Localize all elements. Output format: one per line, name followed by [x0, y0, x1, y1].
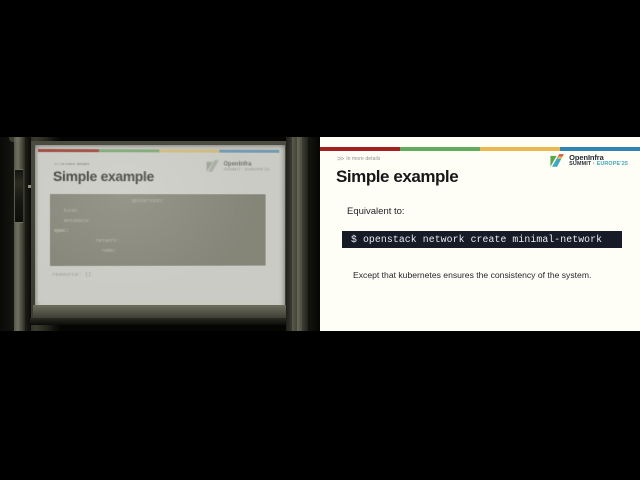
projected-code-line: network: — [96, 238, 120, 244]
projected-code-line: metadata: — [64, 218, 91, 224]
slide-note-text: Except that kubernetes ensures the consi… — [353, 270, 591, 280]
projected-code-line: kind: — [64, 208, 79, 214]
letterbox-top — [0, 0, 640, 137]
slide-eyebrow: >> In more details — [337, 156, 380, 163]
slide-lead-text: Equivalent to: — [347, 206, 405, 217]
projected-code-line: name: — [102, 248, 117, 254]
openinfra-chevron-icon — [205, 159, 222, 174]
slide-eyebrow-label: In more details — [346, 157, 380, 162]
accent-segment-yellow — [480, 147, 560, 151]
command-code-block: $ openstack network create minimal-netwo… — [342, 231, 622, 248]
openinfra-summit-logo: OpenInfra SUMMIT · EUROPE'25 — [549, 153, 628, 168]
projected-code-line: apiVersion: — [132, 198, 165, 204]
slide-title: Simple example — [336, 167, 458, 187]
chevron-right-double-icon: >> — [337, 156, 343, 163]
logo-summit-text: SUMMIT · — [569, 161, 595, 167]
video-frame: >> In more details Simple example OpenIn… — [0, 0, 640, 480]
projected-logo: OpenInfra SUMMIT · EUROPE'25 — [205, 159, 270, 174]
logo-line-summit: SUMMIT · EUROPE'25 — [569, 162, 628, 167]
letterbox-bottom — [0, 331, 640, 480]
door-frame — [14, 137, 25, 331]
projected-title: Simple example — [53, 168, 154, 184]
logo-edition-text: EUROPE'25 — [597, 161, 628, 167]
logo-line-openinfra: OpenInfra — [569, 154, 628, 162]
projected-code-footer: resource: {} — [52, 271, 91, 278]
slide-accent-bar — [320, 147, 640, 151]
projected-code-line: spec: — [54, 228, 69, 234]
projected-code-block: apiVersion: kind: metadata: spec: networ… — [50, 194, 266, 266]
screen-bottom-shadow — [30, 318, 290, 325]
projected-logo-line2: SUMMIT · EUROPE'25 — [224, 167, 270, 171]
openinfra-chevron-icon — [549, 153, 566, 168]
room-camera-pane: >> In more details Simple example OpenIn… — [0, 137, 320, 331]
room-pillar — [308, 137, 320, 331]
logo-wordmark: OpenInfra SUMMIT · EUROPE'25 — [569, 154, 628, 168]
wall-switch-panel — [15, 169, 23, 223]
accent-segment-green — [400, 147, 480, 151]
command-text: $ openstack network create minimal-netwo… — [342, 234, 602, 245]
slide-capture-pane: >> In more details Simple example OpenIn… — [320, 137, 640, 331]
projected-eyebrow: >> In more details — [54, 161, 90, 166]
accent-segment-red — [320, 147, 400, 151]
screen-bottom-rail — [33, 305, 287, 319]
projected-accent-bar — [38, 149, 279, 153]
accent-segment-blue — [560, 147, 640, 151]
projected-slide: >> In more details Simple example OpenIn… — [38, 149, 279, 301]
